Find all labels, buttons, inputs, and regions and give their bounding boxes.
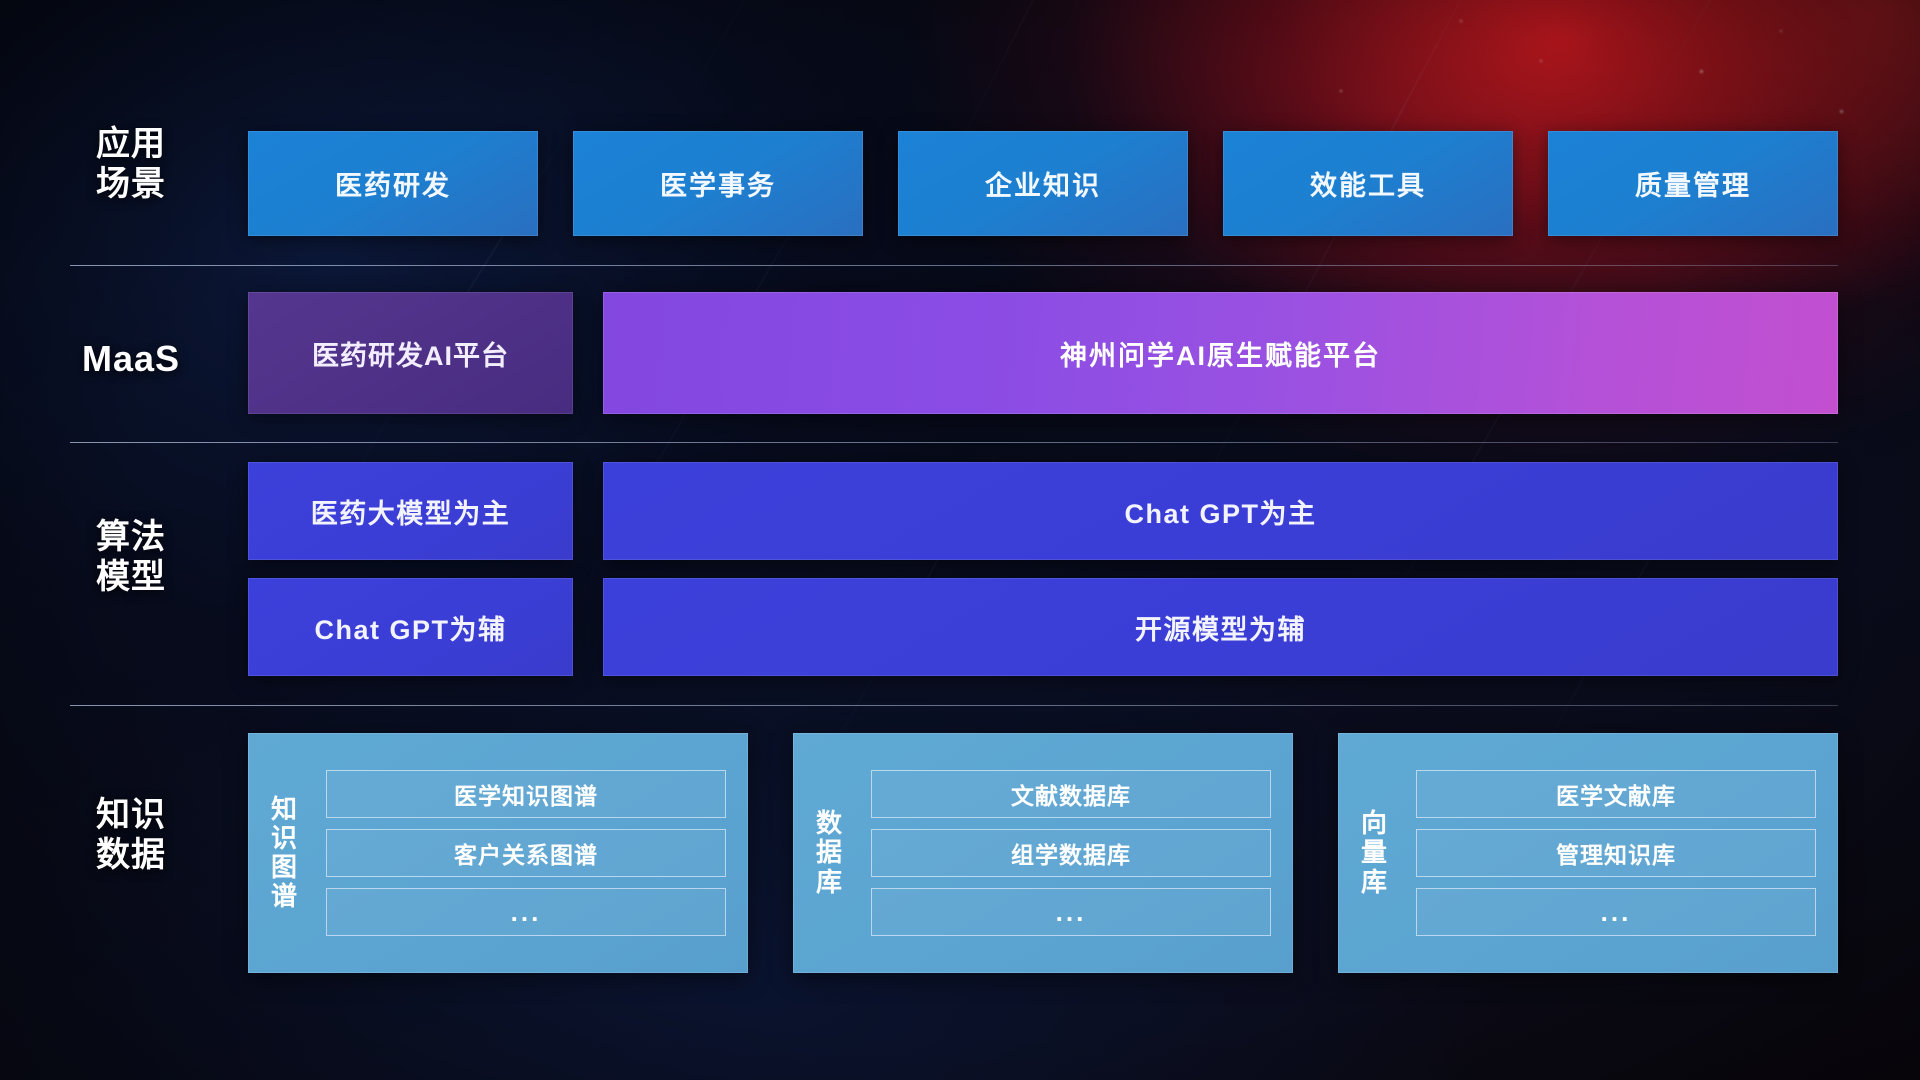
- tier-label-algorithm-models: 算法 模型: [60, 517, 202, 597]
- vertical-label-char: 谱: [271, 882, 297, 911]
- tier-label-maas: MaaS: [60, 338, 202, 380]
- maas-box-medicine-ai-platform[interactable]: 医药研发AI平台: [248, 292, 573, 414]
- app-box-label: 医药研发: [335, 164, 451, 203]
- maas-box-label: 神州问学AI原生赋能平台: [1060, 334, 1381, 373]
- app-box-enterprise-knowledge[interactable]: 企业知识: [898, 131, 1188, 236]
- vertical-label-char: 据: [816, 838, 842, 867]
- knowledge-item[interactable]: 医学文献库: [1416, 770, 1816, 818]
- vertical-label-char: 图: [271, 853, 297, 882]
- app-box-quality-management[interactable]: 质量管理: [1548, 131, 1838, 236]
- algo-box-chatgpt-primary[interactable]: Chat GPT为主: [603, 462, 1838, 560]
- algo-box-label: Chat GPT为辅: [314, 608, 506, 647]
- algo-box-label: 医药大模型为主: [311, 492, 511, 531]
- diagram-stage: 应用 场景 医药研发 医学事务 企业知识 效能工具 质量管理 MaaS 医药研发…: [0, 0, 1920, 1080]
- vertical-label-char: 向: [1361, 809, 1387, 838]
- tier-label-app-scenarios: 应用 场景: [60, 124, 202, 204]
- app-box-label: 企业知识: [985, 164, 1101, 203]
- knowledge-item[interactable]: 组学数据库: [871, 829, 1271, 877]
- vertical-label-char: 数: [816, 809, 842, 838]
- knowledge-panel-knowledge-graph[interactable]: 知 识 图 谱 医学知识图谱 客户关系图谱 ...: [248, 733, 748, 973]
- vertical-label-char: 知: [271, 795, 297, 824]
- tier-label-line: 数据: [60, 835, 202, 875]
- algo-box-medicine-llm-primary[interactable]: 医药大模型为主: [248, 462, 573, 560]
- vertical-label-char: 库: [816, 868, 842, 897]
- knowledge-panel-vertical-label: 数 据 库: [793, 733, 865, 973]
- app-box-medicine-rnd[interactable]: 医药研发: [248, 131, 538, 236]
- tier-label-line: MaaS: [60, 338, 202, 380]
- knowledge-item-more[interactable]: ...: [326, 888, 726, 936]
- tier-label-line: 知识: [60, 795, 202, 835]
- algo-box-label: Chat GPT为主: [1124, 492, 1316, 531]
- tier-label-line: 模型: [60, 557, 202, 597]
- tier-divider-1: [70, 265, 1838, 266]
- algo-box-label: 开源模型为辅: [1135, 608, 1306, 647]
- knowledge-panel-vertical-label: 知 识 图 谱: [248, 733, 320, 973]
- knowledge-panel-items: 医学文献库 管理知识库 ...: [1410, 733, 1838, 973]
- tier-divider-3: [70, 705, 1838, 706]
- knowledge-item[interactable]: 管理知识库: [1416, 829, 1816, 877]
- knowledge-panel-items: 医学知识图谱 客户关系图谱 ...: [320, 733, 748, 973]
- maas-box-shenzhou-wenxue-platform[interactable]: 神州问学AI原生赋能平台: [603, 292, 1838, 414]
- vertical-label-char: 识: [271, 824, 297, 853]
- tier-label-line: 场景: [60, 164, 202, 204]
- knowledge-item[interactable]: 医学知识图谱: [326, 770, 726, 818]
- vertical-label-char: 量: [1361, 838, 1387, 867]
- tier-divider-2: [70, 442, 1838, 443]
- app-box-medical-affairs[interactable]: 医学事务: [573, 131, 863, 236]
- app-box-efficiency-tools[interactable]: 效能工具: [1223, 131, 1513, 236]
- knowledge-panel-vector-store[interactable]: 向 量 库 医学文献库 管理知识库 ...: [1338, 733, 1838, 973]
- knowledge-panel-items: 文献数据库 组学数据库 ...: [865, 733, 1293, 973]
- knowledge-item[interactable]: 文献数据库: [871, 770, 1271, 818]
- knowledge-item[interactable]: 客户关系图谱: [326, 829, 726, 877]
- algo-box-chatgpt-secondary[interactable]: Chat GPT为辅: [248, 578, 573, 676]
- knowledge-item-more[interactable]: ...: [871, 888, 1271, 936]
- tier-label-line: 应用: [60, 124, 202, 164]
- algo-box-opensource-secondary[interactable]: 开源模型为辅: [603, 578, 1838, 676]
- app-box-label: 效能工具: [1310, 164, 1426, 203]
- maas-box-label: 医药研发AI平台: [312, 334, 509, 373]
- tier-label-line: 算法: [60, 517, 202, 557]
- knowledge-panel-vertical-label: 向 量 库: [1338, 733, 1410, 973]
- app-box-label: 质量管理: [1635, 164, 1751, 203]
- app-box-label: 医学事务: [660, 164, 776, 203]
- knowledge-item-more[interactable]: ...: [1416, 888, 1816, 936]
- tier-label-knowledge-data: 知识 数据: [60, 795, 202, 875]
- knowledge-panel-database[interactable]: 数 据 库 文献数据库 组学数据库 ...: [793, 733, 1293, 973]
- vertical-label-char: 库: [1361, 868, 1387, 897]
